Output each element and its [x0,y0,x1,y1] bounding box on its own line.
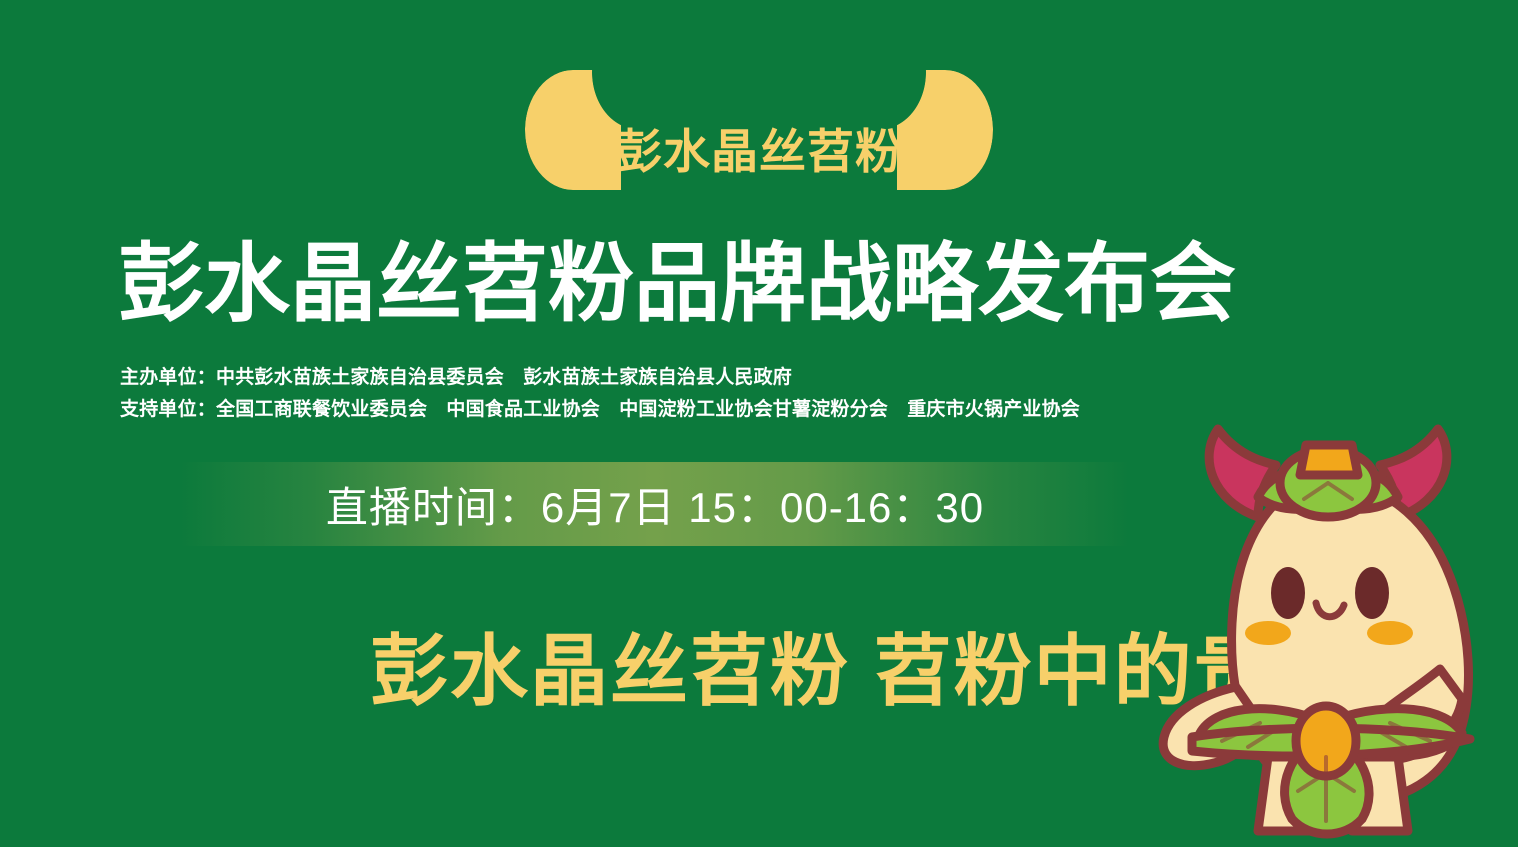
mascot-illustration [1140,407,1512,847]
sweet-potato-mascot [1140,407,1512,847]
horn-right-icon [897,70,993,190]
supporting-organizations-line: 支持单位：全国工商联餐饮业委员会 中国食品工业协会 中国淀粉工业协会甘薯淀粉分会… [120,394,1080,421]
poster-canvas: 彭水晶丝苕粉 彭水晶丝苕粉品牌战略发布会 主办单位：中共彭水苗族土家族自治县委员… [0,0,1518,847]
host-organizations-line: 主办单位：中共彭水苗族土家族自治县委员会 彭水苗族土家族自治县人民政府 [120,362,792,389]
mascot-hat-top [1300,445,1358,475]
mascot-eye-right [1355,567,1389,619]
page-title: 彭水晶丝苕粉品牌战略发布会 [118,238,1408,331]
mascot-eye-left [1271,567,1305,619]
brand-logo: 彭水晶丝苕粉 [0,60,1518,200]
broadcast-time-band: 直播时间：6月7日 15：00-16：30 [180,462,1130,546]
horn-left-icon [525,70,621,190]
broadcast-time-text: 直播时间：6月7日 15：00-16：30 [326,474,984,535]
logo-text: 彭水晶丝苕粉 [615,128,903,175]
mascot-blush-right [1367,621,1413,645]
mascot-blush-left [1245,621,1291,645]
